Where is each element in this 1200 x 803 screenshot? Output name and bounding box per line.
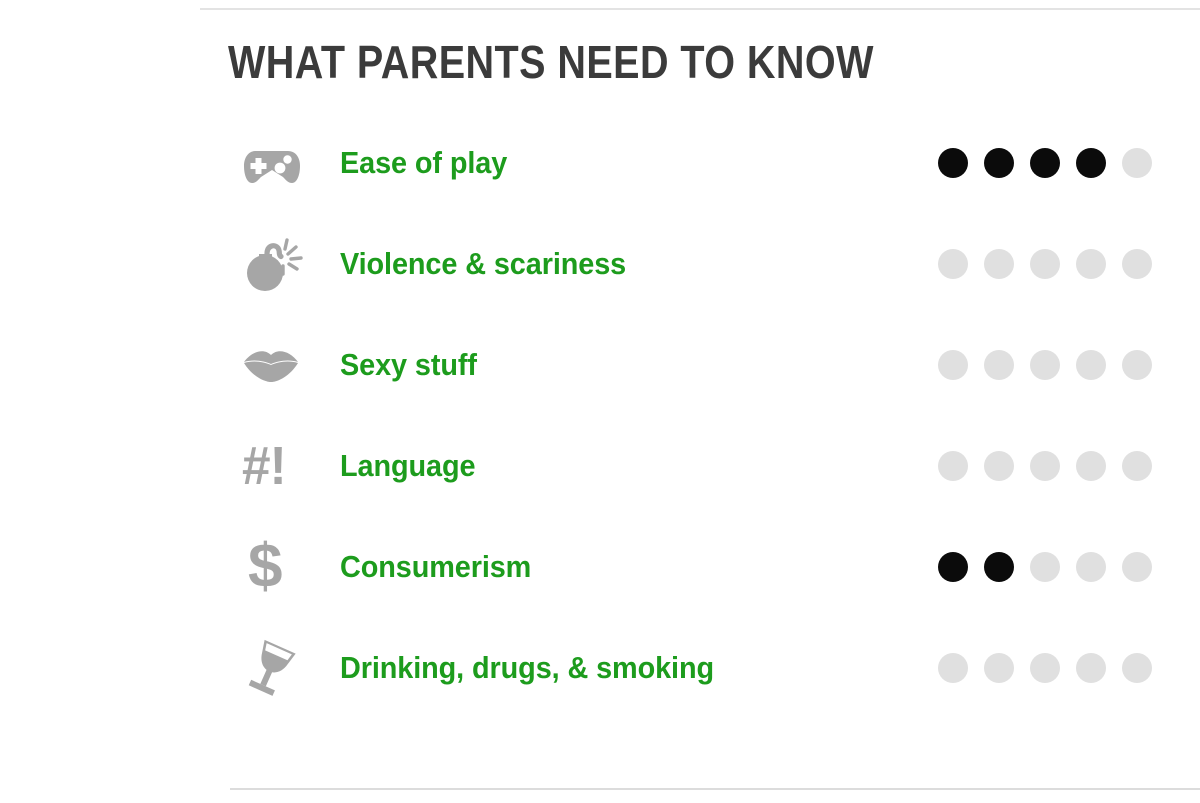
rating-dot-filled	[1076, 148, 1106, 178]
rating-dot-filled	[938, 148, 968, 178]
rating-dot-empty	[1076, 451, 1106, 481]
rating-row: Ease of play	[228, 112, 1168, 213]
page-title: WHAT PARENTS NEED TO KNOW	[228, 34, 1036, 90]
rating-dots	[938, 350, 1168, 380]
rating-dot-empty	[984, 350, 1014, 380]
bottom-divider	[230, 788, 1200, 790]
rating-dots	[938, 148, 1168, 178]
rating-dot-empty	[1122, 350, 1152, 380]
rating-dot-empty	[1122, 249, 1152, 279]
rating-dots	[938, 552, 1168, 582]
bomb-icon	[228, 231, 340, 297]
rating-row-label: Sexy stuff	[340, 348, 896, 382]
rating-row: $Consumerism	[228, 516, 1168, 617]
rating-dot-empty	[1076, 350, 1106, 380]
rating-dot-empty	[1076, 653, 1106, 683]
rating-dots	[938, 653, 1168, 683]
rating-row-label: Consumerism	[340, 550, 896, 584]
rating-dot-empty	[1030, 653, 1060, 683]
top-divider	[200, 8, 1200, 10]
rating-dot-filled	[984, 148, 1014, 178]
rating-row-label: Drinking, drugs, & smoking	[340, 651, 896, 685]
parents-need-to-know-panel: WHAT PARENTS NEED TO KNOW Ease of playVi…	[0, 0, 1200, 803]
rating-dot-empty	[938, 350, 968, 380]
rating-row: Sexy stuff	[228, 314, 1168, 415]
wine-glass-icon	[228, 635, 340, 701]
rating-dot-empty	[1076, 249, 1106, 279]
rating-row: Violence & scariness	[228, 213, 1168, 314]
rating-dot-filled	[1030, 148, 1060, 178]
rating-dot-empty	[984, 451, 1014, 481]
rating-dot-empty	[1030, 350, 1060, 380]
rating-dots	[938, 249, 1168, 279]
rating-dot-empty	[984, 249, 1014, 279]
rating-rows: Ease of playViolence & scarinessSexy stu…	[228, 112, 1168, 718]
rating-row-label: Language	[340, 449, 896, 483]
rating-dot-empty	[1122, 653, 1152, 683]
rating-dot-empty	[1030, 249, 1060, 279]
rating-dot-empty	[938, 653, 968, 683]
rating-dot-filled	[938, 552, 968, 582]
rating-dot-empty	[1122, 451, 1152, 481]
rating-dot-empty	[938, 451, 968, 481]
rating-dots	[938, 451, 1168, 481]
rating-dot-empty	[984, 653, 1014, 683]
rating-dot-empty	[1030, 451, 1060, 481]
rating-row: Drinking, drugs, & smoking	[228, 617, 1168, 718]
rating-row: #!Language	[228, 415, 1168, 516]
rating-row-label: Ease of play	[340, 146, 896, 180]
rating-dot-empty	[1122, 552, 1152, 582]
rating-dot-empty	[1122, 148, 1152, 178]
rating-dot-empty	[938, 249, 968, 279]
lips-icon	[228, 332, 340, 398]
rating-dot-empty	[1030, 552, 1060, 582]
rating-row-label: Violence & scariness	[340, 247, 896, 281]
rating-dot-empty	[1076, 552, 1106, 582]
panel-content: WHAT PARENTS NEED TO KNOW Ease of playVi…	[228, 34, 1168, 718]
gamepad-icon	[228, 130, 340, 196]
dollar-sign-icon: $	[228, 534, 340, 600]
rating-dot-filled	[984, 552, 1014, 582]
hash-exclamation-icon: #!	[228, 433, 340, 499]
